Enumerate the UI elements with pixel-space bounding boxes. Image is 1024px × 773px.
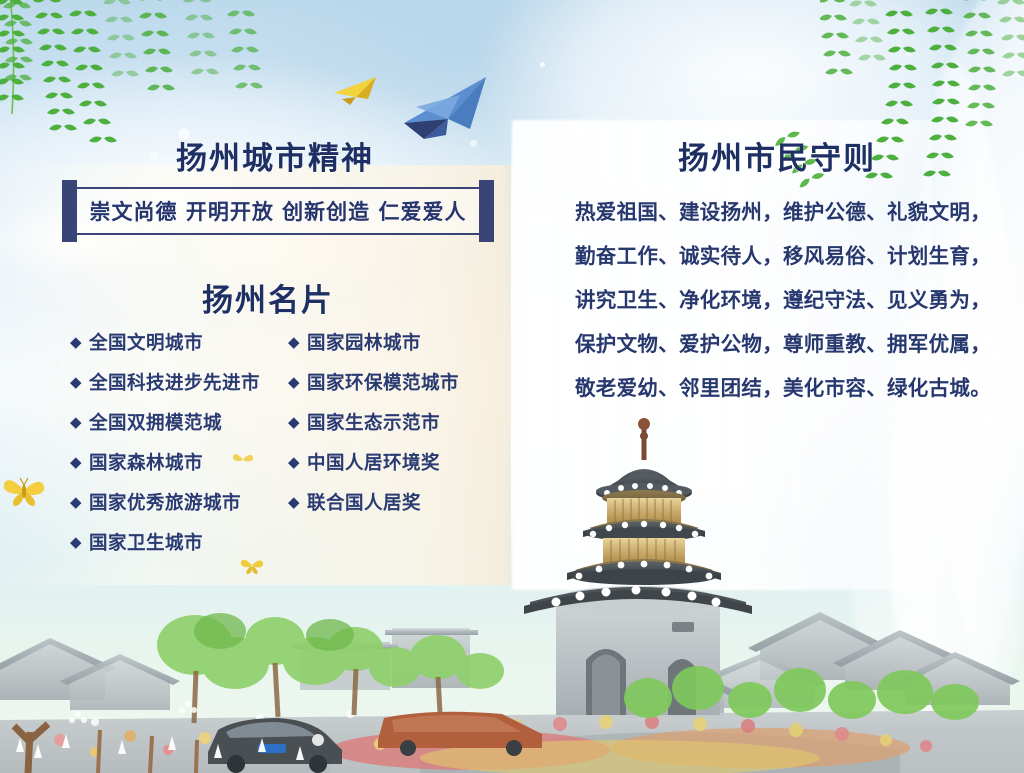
list-item: ◆ 国家卫生城市 [70, 522, 290, 562]
poster-canvas: 扬州城市精神 崇文尚德 开明开放 创新创造 仁爱爱人 扬州名片 ◆ 全国文明城市… [0, 0, 1024, 773]
citizen-rules-text: 热爱祖国、建设扬州，维护公德、礼貌文明， 勤奋工作、诚实待人，移风易俗、计划生育… [575, 190, 975, 410]
diamond-bullet-icon: ◆ [288, 495, 300, 510]
diamond-bullet-icon: ◆ [70, 335, 82, 350]
butterfly-icon [2, 472, 46, 508]
list-item: ◆ 国家生态示范市 [288, 402, 508, 442]
pagoda-base [524, 586, 752, 716]
list-item: ◆ 国家森林城市 [70, 442, 290, 482]
banner-rule-bottom [77, 233, 479, 235]
list-item-label: 国家环保模范城市 [307, 369, 459, 395]
sparkle [540, 62, 545, 67]
diamond-bullet-icon: ◆ [288, 335, 300, 350]
list-item: ◆ 全国双拥模范城 [70, 402, 290, 442]
banner-bar-right [479, 180, 494, 242]
car-illustration [200, 700, 360, 773]
list-item: ◆ 全国科技进步先进市 [70, 362, 290, 402]
diamond-bullet-icon: ◆ [70, 455, 82, 470]
rules-line: 热爱祖国、建设扬州，维护公德、礼貌文明， [575, 190, 975, 234]
city-scene-illustration [0, 560, 1024, 773]
paper-plane-icon [334, 77, 376, 105]
rules-line: 讲究卫生、净化环境，遵纪守法、见义勇为， [575, 278, 975, 322]
diamond-bullet-icon: ◆ [288, 375, 300, 390]
diamond-bullet-icon: ◆ [70, 495, 82, 510]
list-item: ◆ 国家园林城市 [288, 322, 508, 362]
sparkle [60, 360, 66, 366]
rules-line: 敬老爱幼、邻里团结，美化市容、绿化古城。 [575, 366, 975, 410]
banner-inner: 崇文尚德 开明开放 创新创造 仁爱爱人 [77, 189, 479, 233]
diamond-bullet-icon: ◆ [70, 375, 82, 390]
list-item-label: 中国人居环境奖 [307, 449, 440, 475]
city-cards-title: 扬州名片 [202, 275, 334, 320]
diamond-bullet-icon: ◆ [288, 415, 300, 430]
list-item: ◆ 国家环保模范城市 [288, 362, 508, 402]
list-item: ◆ 中国人居环境奖 [288, 442, 508, 482]
trees-illustration [620, 640, 1000, 750]
paper-plane-icon [404, 77, 486, 139]
list-item-label: 国家园林城市 [307, 329, 421, 355]
pagoda-illustration [545, 398, 745, 608]
sparkle [958, 118, 964, 124]
paper-fold-edge [511, 120, 514, 590]
rules-line: 勤奋工作、诚实待人，移风易俗、计划生育， [575, 234, 975, 278]
diamond-bullet-icon: ◆ [70, 535, 82, 550]
flowerbed [330, 728, 910, 773]
city-cards-column-right: ◆ 国家园林城市 ◆ 国家环保模范城市 ◆ 国家生态示范市 ◆ 中国人居环境奖 … [288, 322, 508, 522]
list-item-label: 国家卫生城市 [89, 529, 203, 555]
citizen-rules-title: 扬州市民守则 [678, 133, 876, 178]
list-item: ◆ 国家优秀旅游城市 [70, 482, 290, 522]
sparkle [470, 140, 477, 147]
car-illustration [372, 700, 552, 760]
list-item-label: 全国双拥模范城 [89, 409, 222, 435]
diamond-bullet-icon: ◆ [288, 455, 300, 470]
list-item-label: 国家生态示范市 [307, 409, 440, 435]
banner-bar-left [62, 180, 77, 242]
rules-line: 保护文物、爱护公物，尊师重教、拥军优属， [575, 322, 975, 366]
sparkle [150, 152, 158, 160]
city-spirit-title: 扬州城市精神 [176, 133, 374, 178]
city-cards-column-left: ◆ 全国文明城市 ◆ 全国科技进步先进市 ◆ 全国双拥模范城 ◆ 国家森林城市 … [70, 322, 290, 562]
list-item-label: 国家森林城市 [89, 449, 203, 475]
sparkle [906, 52, 911, 57]
list-item-label: 全国文明城市 [89, 329, 203, 355]
city-spirit-motto: 崇文尚德 开明开放 创新创造 仁爱爱人 [90, 196, 467, 226]
flower-dots [0, 700, 1024, 773]
city-spirit-banner: 崇文尚德 开明开放 创新创造 仁爱爱人 [62, 180, 494, 242]
list-item-label: 国家优秀旅游城市 [89, 489, 241, 515]
diamond-bullet-icon: ◆ [70, 415, 82, 430]
list-item: ◆ 全国文明城市 [70, 322, 290, 362]
list-item-label: 联合国人居奖 [307, 489, 421, 515]
paper-planes [320, 55, 510, 145]
trees-illustration [120, 605, 540, 745]
list-item: ◆ 联合国人居奖 [288, 482, 508, 522]
list-item-label: 全国科技进步先进市 [89, 369, 260, 395]
grass-flowers [0, 690, 330, 773]
